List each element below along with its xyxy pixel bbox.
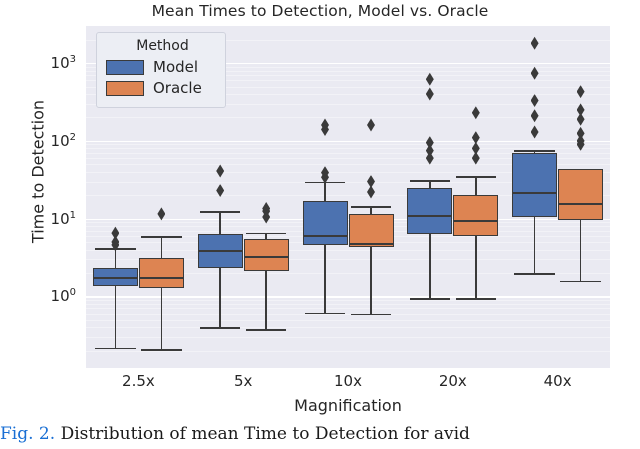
boxplot-whisker-cap-upper (141, 236, 182, 238)
boxplot-median (512, 192, 557, 194)
boxplot-box (244, 239, 289, 272)
boxplot-whisker-cap-lower (351, 314, 392, 316)
boxplot-outlier (216, 164, 224, 177)
boxplot-whisker-cap-upper (514, 150, 555, 152)
boxplot-outlier (367, 175, 375, 188)
boxplot-whisker-cap-upper (200, 211, 241, 213)
gridline-minor (86, 320, 610, 321)
boxplot-box (303, 201, 348, 245)
legend-item[interactable]: Model (106, 58, 215, 76)
legend-title: Method (106, 38, 215, 54)
boxplot-box (558, 169, 603, 221)
boxplot-whisker-lower (580, 220, 582, 280)
gridline-minor (86, 144, 610, 145)
boxplot-outlier (531, 109, 539, 122)
boxplot-whisker-upper (161, 236, 163, 258)
boxplot-outlier (426, 136, 434, 149)
boxplot-whisker-lower (219, 268, 221, 327)
legend: Method ModelOracle (96, 32, 226, 108)
boxplot-median (244, 256, 289, 258)
figure-caption: Fig. 2. Distribution of mean Time to Det… (0, 424, 640, 444)
boxplot-whisker-cap-lower (246, 329, 287, 331)
boxplot-whisker-upper (219, 211, 221, 234)
boxplot-whisker-upper (324, 182, 326, 201)
boxplot-outlier (531, 37, 539, 50)
x-axis-label: Magnification (86, 396, 610, 415)
boxplot-whisker-cap-lower (560, 281, 601, 283)
gridline-minor (86, 304, 610, 305)
boxplot-outlier (531, 126, 539, 139)
boxplot-outlier (531, 94, 539, 107)
boxplot-box (407, 188, 452, 235)
legend-item[interactable]: Oracle (106, 79, 215, 97)
boxplot-whisker-cap-lower (95, 348, 136, 350)
boxplot-whisker-cap-lower (410, 298, 451, 300)
boxplot-whisker-cap-lower (514, 273, 555, 275)
boxplot-whisker-lower (534, 217, 536, 273)
boxplot-outlier (531, 67, 539, 80)
gridline-minor (86, 300, 610, 301)
boxplot-outlier (472, 131, 480, 144)
boxplot-outlier (367, 118, 375, 131)
boxplot-whisker-upper (475, 176, 477, 195)
boxplot-outlier (577, 127, 585, 140)
boxplot-median (558, 203, 603, 205)
boxplot-median (139, 277, 184, 279)
boxplot-whisker-lower (115, 286, 117, 347)
boxplot-outlier (577, 103, 585, 116)
y-axis-tick: 102 (51, 132, 76, 150)
y-axis-tick: 103 (51, 54, 76, 72)
x-axis-tick: 5x (234, 372, 252, 390)
figure-caption-ref[interactable]: Fig. 2. (0, 424, 55, 444)
boxplot-median (303, 235, 348, 237)
boxplot-median (453, 220, 498, 222)
gridline-minor (86, 308, 610, 309)
legend-swatch (106, 81, 144, 96)
legend-label: Oracle (153, 79, 202, 97)
boxplot-box (512, 153, 557, 217)
boxplot-whisker-lower (475, 236, 477, 298)
boxplot-whisker-cap-lower (200, 327, 241, 329)
y-axis-tick: 100 (51, 287, 76, 305)
gridline-minor (86, 314, 610, 315)
gridline-minor (86, 250, 610, 251)
boxplot-box (139, 258, 184, 287)
gridline-minor (86, 117, 610, 118)
boxplot-box (453, 195, 498, 236)
legend-label: Model (153, 58, 198, 76)
x-axis-tick: 10x (334, 372, 362, 390)
boxplot-median (407, 215, 452, 217)
boxplot-whisker-lower (161, 288, 163, 350)
x-axis-tick: 20x (439, 372, 467, 390)
boxplot-whisker-lower (370, 247, 372, 314)
gridline-minor (86, 337, 610, 338)
figure: Mean Times to Detection, Model vs. Oracl… (0, 0, 640, 449)
gridline (86, 141, 610, 142)
boxplot-whisker-cap-lower (141, 349, 182, 351)
x-axis-tick: 2.5x (122, 372, 155, 390)
boxplot-median (349, 243, 394, 245)
gridline-minor (86, 327, 610, 328)
gridline (86, 296, 610, 297)
boxplot-whisker-cap-lower (456, 298, 497, 300)
figure-caption-text: Distribution of mean Time to Detection f… (61, 424, 470, 444)
boxplot-whisker-cap-lower (305, 313, 346, 315)
boxplot-whisker-lower (265, 271, 267, 329)
boxplot-median (198, 250, 243, 252)
chart-title: Mean Times to Detection, Model vs. Oracl… (0, 2, 640, 20)
x-axis-tick: 40x (544, 372, 572, 390)
boxplot-whisker-cap-upper (456, 176, 497, 178)
boxplot-outlier (111, 227, 119, 240)
boxplot-whisker-cap-upper (351, 206, 392, 208)
x-axis-tick-labels: 2.5x5x10x20x40x (86, 372, 610, 396)
legend-swatch (106, 60, 144, 75)
boxplot-whisker-cap-upper (246, 233, 287, 235)
boxplot-whisker-cap-upper (560, 169, 601, 171)
boxplot-median (93, 277, 138, 279)
boxplot-outlier (426, 88, 434, 101)
legend-entries: ModelOracle (106, 58, 215, 97)
boxplot-whisker-cap-upper (410, 180, 451, 182)
boxplot-whisker-lower (429, 234, 431, 298)
y-axis-tick: 101 (51, 210, 76, 228)
boxplot-whisker-lower (324, 245, 326, 313)
y-axis-label: Time to Detection (29, 22, 48, 322)
